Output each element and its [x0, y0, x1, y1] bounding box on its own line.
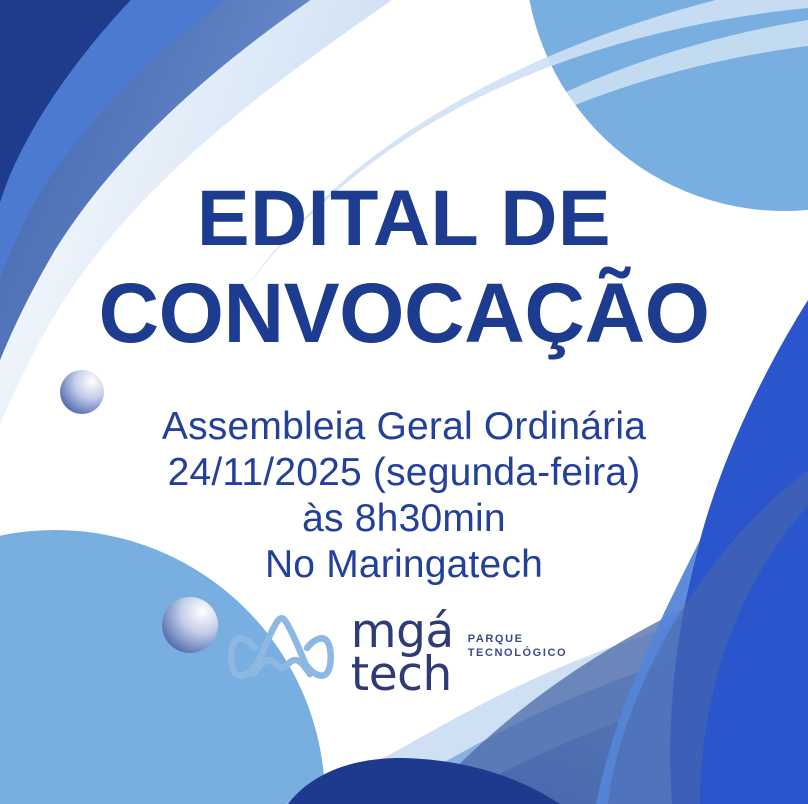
headline-line-1: EDITAL DE	[197, 173, 611, 262]
poster-canvas: EDITAL DE CONVOCAÇÃO Assembleia Geral Or…	[0, 0, 808, 804]
event-detail-assembly: Assembleia Geral Ordinária	[0, 404, 808, 450]
headline-line-2: CONVOCAÇÃO	[0, 264, 808, 362]
logo-lockup: mgá tech PARQUE TECNOLÓGICO	[0, 606, 808, 696]
logo-word-line-2: tech	[351, 653, 454, 696]
event-detail-location: No Maringatech	[0, 542, 808, 588]
event-detail-date: 24/11/2025 (segunda-feira)	[0, 450, 808, 496]
logo-wordmark-text: mgá tech	[351, 606, 454, 696]
logo-wordmark: mgá tech PARQUE TECNOLÓGICO	[351, 606, 567, 696]
logo-tagline-line-2: TECNOLÓGICO	[468, 646, 568, 660]
event-details: Assembleia Geral Ordinária 24/11/2025 (s…	[0, 404, 808, 588]
logo-tagline: PARQUE TECNOLÓGICO	[468, 606, 568, 660]
poster-content: EDITAL DE CONVOCAÇÃO Assembleia Geral Or…	[0, 0, 808, 804]
logo-tagline-line-1: PARQUE	[468, 632, 568, 646]
mga-tech-wave-mark-icon	[225, 608, 337, 694]
page-title: EDITAL DE CONVOCAÇÃO	[0, 172, 808, 363]
event-detail-time: às 8h30min	[0, 496, 808, 542]
